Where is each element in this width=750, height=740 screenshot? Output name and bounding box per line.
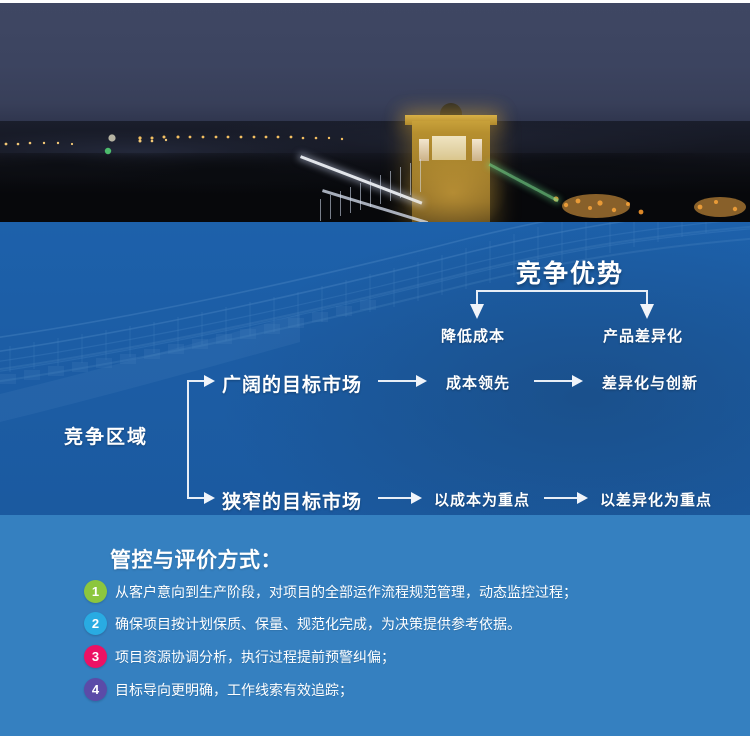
scope-bracket-stub-bottom bbox=[187, 497, 204, 499]
infographic-page: 竞争优势 降低成本 产品差异化 竞争区域 广阔的目标市场 成本领先 差异化与创新… bbox=[0, 0, 750, 740]
item-text-3: 项目资源协调分析，执行过程提前预警纠偏； bbox=[115, 647, 395, 667]
row1-connector-2 bbox=[534, 380, 572, 382]
scope-bracket-stub-top bbox=[187, 380, 204, 382]
strategy-matrix-panel: 竞争优势 降低成本 产品差异化 竞争区域 广阔的目标市场 成本领先 差异化与创新… bbox=[0, 222, 750, 515]
item-badge-1: 1 bbox=[84, 580, 107, 603]
row1-arrow-2 bbox=[572, 375, 583, 387]
advantage-arrow-right bbox=[640, 304, 654, 319]
row2-connector-1 bbox=[378, 497, 411, 499]
row2-connector-2 bbox=[544, 497, 577, 499]
advantage-col-differentiation: 产品差异化 bbox=[603, 325, 683, 346]
scope-label: 竞争区域 bbox=[64, 422, 148, 449]
bottom-white-edge bbox=[0, 736, 750, 740]
row-broad-scope: 广阔的目标市场 bbox=[222, 370, 362, 397]
row-narrow-cost-focus: 以成本为重点 bbox=[434, 489, 530, 510]
item-text-2: 确保项目按计划保质、保量、规范化完成，为决策提供参考依据。 bbox=[115, 614, 521, 634]
item-badge-2: 2 bbox=[84, 612, 107, 635]
item-badge-3: 3 bbox=[84, 645, 107, 668]
row1-arrow-1 bbox=[416, 375, 427, 387]
row2-arrow-1 bbox=[411, 492, 422, 504]
item-badge-4: 4 bbox=[84, 678, 107, 701]
bottom-heading: 管控与评价方式： bbox=[110, 544, 282, 574]
scope-arrow-broad bbox=[204, 375, 215, 387]
row-narrow-differentiation-focus: 以差异化为重点 bbox=[600, 489, 712, 510]
row2-arrow-2 bbox=[577, 492, 588, 504]
advantage-bracket-top bbox=[476, 290, 648, 292]
row-broad-differentiation-innovation: 差异化与创新 bbox=[602, 372, 698, 393]
advantage-col-lower-cost: 降低成本 bbox=[441, 325, 505, 346]
diagram-title: 竞争优势 bbox=[516, 254, 750, 290]
row-broad-cost-leadership: 成本领先 bbox=[446, 372, 510, 393]
item-text-4: 目标导向更明确，工作线索有效追踪； bbox=[115, 680, 353, 700]
advantage-arrow-left bbox=[470, 304, 484, 319]
row1-connector-1 bbox=[378, 380, 416, 382]
header-photo bbox=[0, 3, 750, 222]
item-text-1: 从客户意向到生产阶段，对项目的全部运作流程规范管理，动态监控过程； bbox=[115, 582, 577, 602]
scope-arrow-narrow bbox=[204, 492, 215, 504]
scope-bracket-spine bbox=[187, 380, 189, 499]
row-narrow-scope: 狭窄的目标市场 bbox=[222, 487, 362, 514]
tower-window-right bbox=[472, 139, 482, 161]
